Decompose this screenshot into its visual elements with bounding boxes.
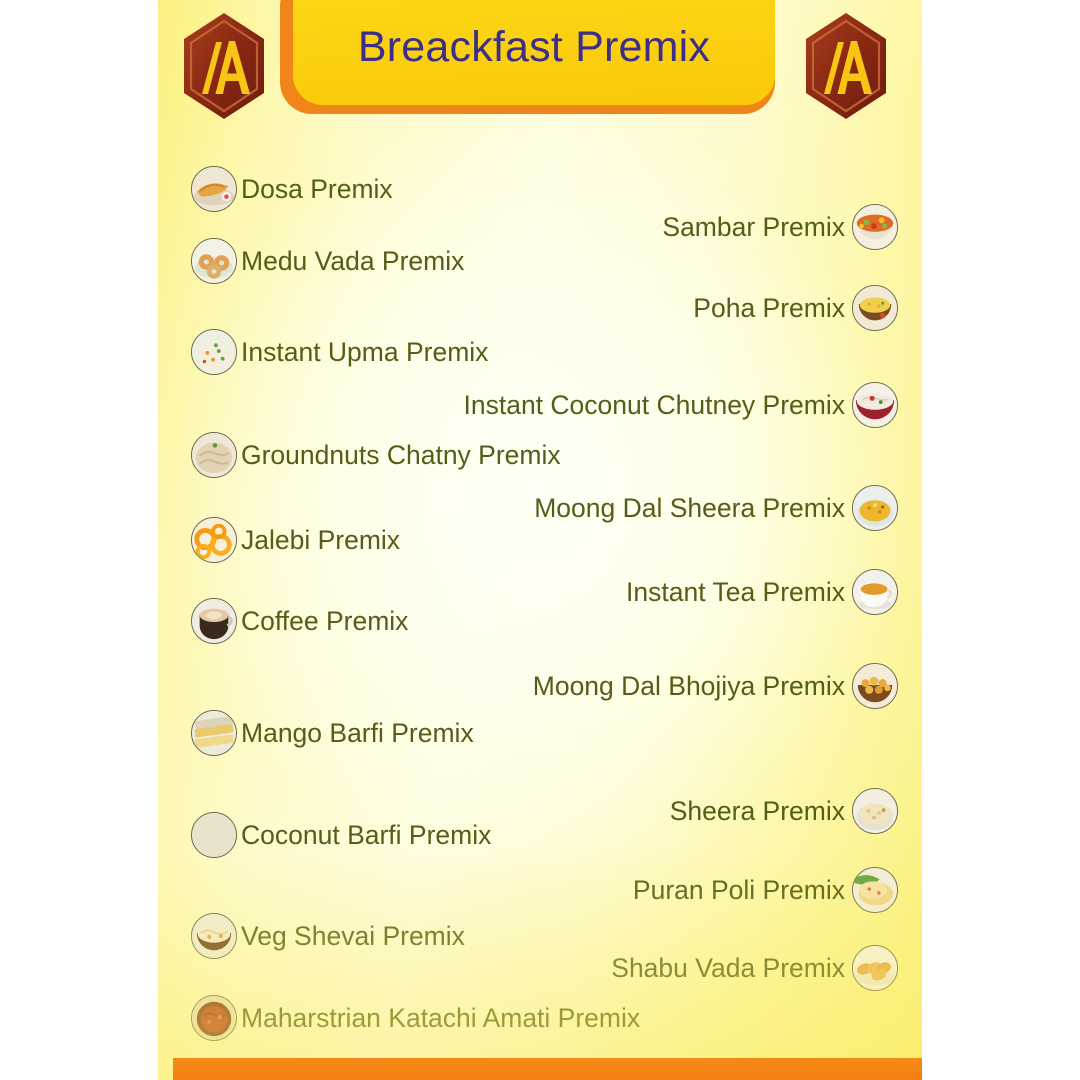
list-item-label: Instant Upma Premix — [241, 339, 488, 366]
list-item-label: Puran Poli Premix — [633, 877, 845, 904]
page-title: Breackfast Premix — [348, 8, 720, 69]
title-banner: Breackfast Premix — [280, 0, 775, 114]
tea-cup-icon — [852, 569, 898, 615]
list-item-label: Groundnuts Chatny Premix — [241, 442, 561, 469]
list-item-label: Medu Vada Premix — [241, 248, 464, 275]
footer-accent-bar — [173, 1058, 922, 1080]
list-item[interactable]: Jalebi Premix — [191, 516, 400, 564]
mango-barfi-icon — [191, 710, 237, 756]
list-item[interactable]: Poha Premix — [693, 284, 898, 332]
brand-hexagon-logo-right — [802, 10, 890, 122]
moong-dal-sheera-icon — [852, 485, 898, 531]
list-item-label: Instant Coconut Chutney Premix — [464, 392, 846, 419]
premix-item-list: Dosa PremixSambar PremixMedu Vada Premix… — [158, 132, 922, 1032]
poster-header: Breackfast Premix — [158, 0, 922, 132]
sheera-icon — [852, 788, 898, 834]
list-item-label: Dosa Premix — [241, 176, 393, 203]
veg-shevai-icon — [191, 913, 237, 959]
list-item[interactable]: Shabu Vada Premix — [611, 944, 898, 992]
list-item-label: Sheera Premix — [670, 798, 845, 825]
list-item-label: Poha Premix — [693, 295, 845, 322]
medu-vada-icon — [191, 238, 237, 284]
jalebi-icon — [191, 517, 237, 563]
title-banner-face: Breackfast Premix — [293, 0, 775, 105]
list-item[interactable]: Instant Upma Premix — [191, 328, 488, 376]
list-item[interactable]: Puran Poli Premix — [633, 866, 898, 914]
list-item[interactable]: Coconut Barfi Premix — [191, 811, 491, 859]
list-item[interactable]: Groundnuts Chatny Premix — [191, 431, 561, 479]
list-item-label: Moong Dal Sheera Premix — [534, 495, 845, 522]
coconut-chutney-icon — [852, 382, 898, 428]
list-item[interactable]: Sheera Premix — [670, 787, 898, 835]
premix-product-poster: Breackfast Premix — [158, 0, 922, 1080]
list-item-label: Coffee Premix — [241, 608, 408, 635]
list-item-label: Shabu Vada Premix — [611, 955, 845, 982]
list-item[interactable]: Dosa Premix — [191, 165, 393, 213]
poha-icon — [852, 285, 898, 331]
list-item[interactable]: Moong Dal Sheera Premix — [534, 484, 898, 532]
list-item[interactable]: Coffee Premix — [191, 597, 408, 645]
sambar-bowl-icon — [852, 204, 898, 250]
list-item-label: Sambar Premix — [662, 214, 845, 241]
coffee-cup-icon — [191, 598, 237, 644]
coconut-barfi-icon — [191, 812, 237, 858]
shabu-vada-icon — [852, 945, 898, 991]
list-item[interactable]: Mango Barfi Premix — [191, 709, 474, 757]
list-item-label: Veg Shevai Premix — [241, 923, 465, 950]
list-item[interactable]: Moong Dal Bhojiya Premix — [533, 662, 898, 710]
list-item-label: Jalebi Premix — [241, 527, 400, 554]
list-item-label: Coconut Barfi Premix — [241, 822, 491, 849]
list-item[interactable]: Medu Vada Premix — [191, 237, 464, 285]
brand-hexagon-logo-left — [180, 10, 268, 122]
list-item[interactable]: Instant Tea Premix — [626, 568, 898, 616]
groundnut-chutney-icon — [191, 432, 237, 478]
list-item-label: Mango Barfi Premix — [241, 720, 474, 747]
list-item[interactable]: Instant Coconut Chutney Premix — [464, 381, 899, 429]
list-item[interactable]: Maharstrian Katachi Amati Premix — [191, 994, 640, 1042]
list-item[interactable]: Sambar Premix — [662, 203, 898, 251]
list-item-label: Instant Tea Premix — [626, 579, 845, 606]
upma-icon — [191, 329, 237, 375]
dosa-icon — [191, 166, 237, 212]
katachi-amati-icon — [191, 995, 237, 1041]
moong-dal-bhojiya-icon — [852, 663, 898, 709]
list-item[interactable]: Veg Shevai Premix — [191, 912, 465, 960]
list-item-label: Moong Dal Bhojiya Premix — [533, 673, 845, 700]
puran-poli-icon — [852, 867, 898, 913]
list-item-label: Maharstrian Katachi Amati Premix — [241, 1005, 640, 1032]
